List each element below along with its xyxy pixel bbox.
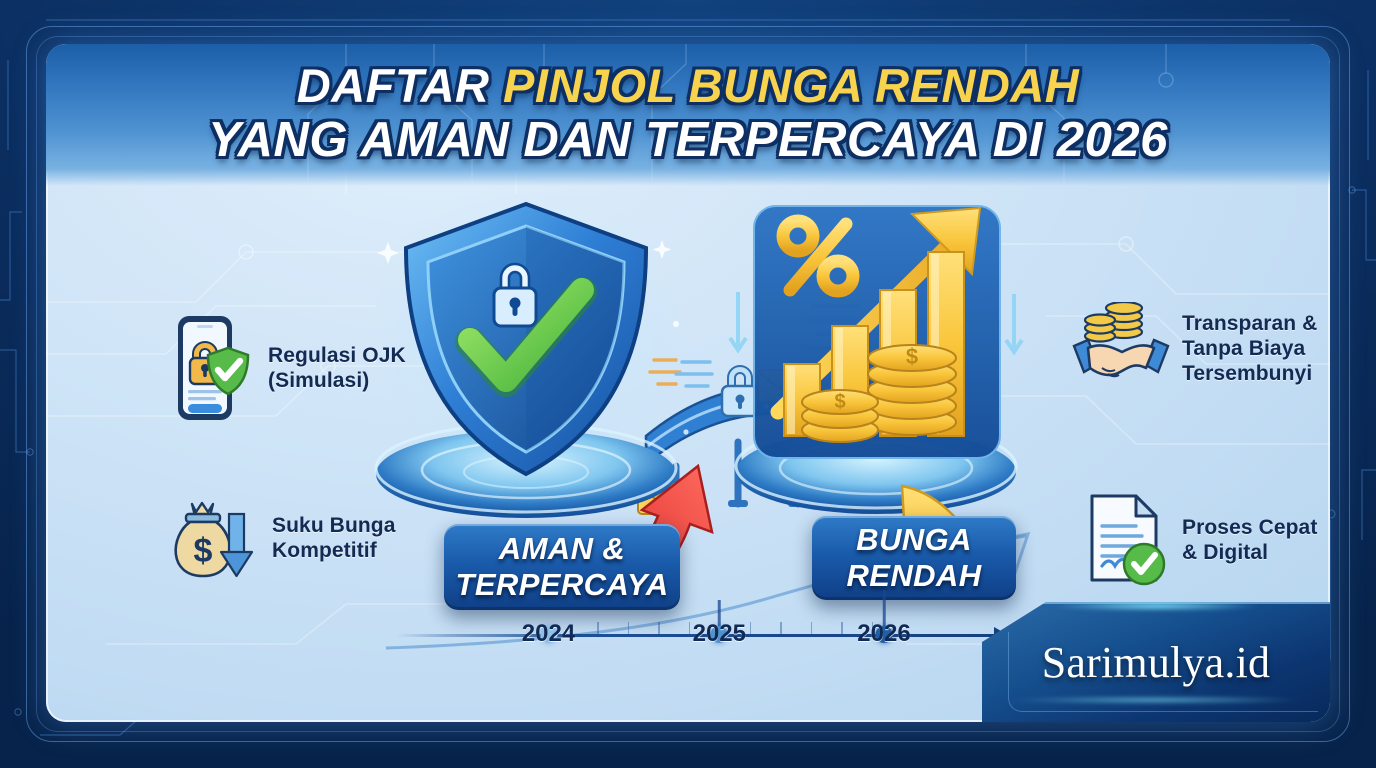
title-highlight-part: PINJOL BUNGA RENDAH [503,59,1079,112]
svg-text:$: $ [834,391,845,413]
badge-aman-line1: AMAN & [499,531,625,566]
timeline-node-2025[interactable]: 2025 [674,588,764,680]
feature-label-line3: Tersembunyi [1182,361,1317,386]
timeline-label-2025: 2025 [693,620,746,648]
svg-text:$: $ [906,344,918,369]
feature-label-line2: Tanpa Biaya [1182,336,1317,361]
title-plain-part: DAFTAR [297,59,503,112]
timeline-label-2024: 2024 [522,620,575,648]
feature-regulasi-ojk: Regulasi OJK (Simulasi) [164,312,434,424]
timeline-label-2026: 2026 [857,620,910,648]
poster-root: DAFTAR PINJOL BUNGA RENDAH YANG AMAN DAN… [0,0,1376,768]
badge-bunga-line1: BUNGA [856,522,972,557]
bridge-lock-icon [722,366,758,416]
feature-label-line1: Regulasi OJK [268,343,406,368]
feature-transparan: Transparan & Tanpa Biaya Tersembunyi [1072,302,1330,394]
money-bag-down-arrow-icon: $ [164,492,260,584]
timeline-node-2026[interactable]: 2026 [839,588,929,680]
title-line-2: YANG AMAN DAN TERPERCAYA DI 2026 [46,113,1330,168]
feature-proses-cepat-label: Proses Cepat & Digital [1182,515,1317,565]
content-panel: DAFTAR PINJOL BUNGA RENDAH YANG AMAN DAN… [46,44,1330,722]
feature-label-line2: & Digital [1182,540,1317,565]
feature-suku-bunga: $ Suku Bunga Kompetitif [164,492,434,584]
feature-suku-bunga-label: Suku Bunga Kompetitif [272,513,396,563]
feature-label-line1: Suku Bunga [272,513,396,538]
brand-watermark[interactable]: Sarimulya.id [982,602,1330,722]
feature-label-line1: Proses Cepat [1182,515,1317,540]
feature-label-line2: Kompetitif [272,538,396,563]
feature-regulasi-ojk-label: Regulasi OJK (Simulasi) [268,343,406,393]
feature-label-line1: Transparan & [1182,311,1317,336]
handshake-coins-icon [1072,302,1170,394]
document-check-icon [1084,492,1170,588]
phone-lock-shield-check-icon [164,312,256,424]
timeline-node-2024[interactable]: 2024 [504,588,594,680]
feature-label-line2: (Simulasi) [268,368,406,393]
brand-top-glow [1051,601,1261,611]
timeline: 2024 2025 2026 [396,588,1006,680]
brand-bottom-glow [1006,696,1306,704]
gold-bar-chart-coins-percent-icon: $ $ [730,206,1022,458]
svg-text:$: $ [194,532,213,570]
brand-name: Sarimulya.id [1042,637,1270,688]
header-band: DAFTAR PINJOL BUNGA RENDAH YANG AMAN DAN… [46,44,1330,186]
feature-transparan-label: Transparan & Tanpa Biaya Tersembunyi [1182,311,1317,386]
page-title: DAFTAR PINJOL BUNGA RENDAH YANG AMAN DAN… [46,58,1330,168]
feature-proses-cepat: Proses Cepat & Digital [1084,492,1330,588]
